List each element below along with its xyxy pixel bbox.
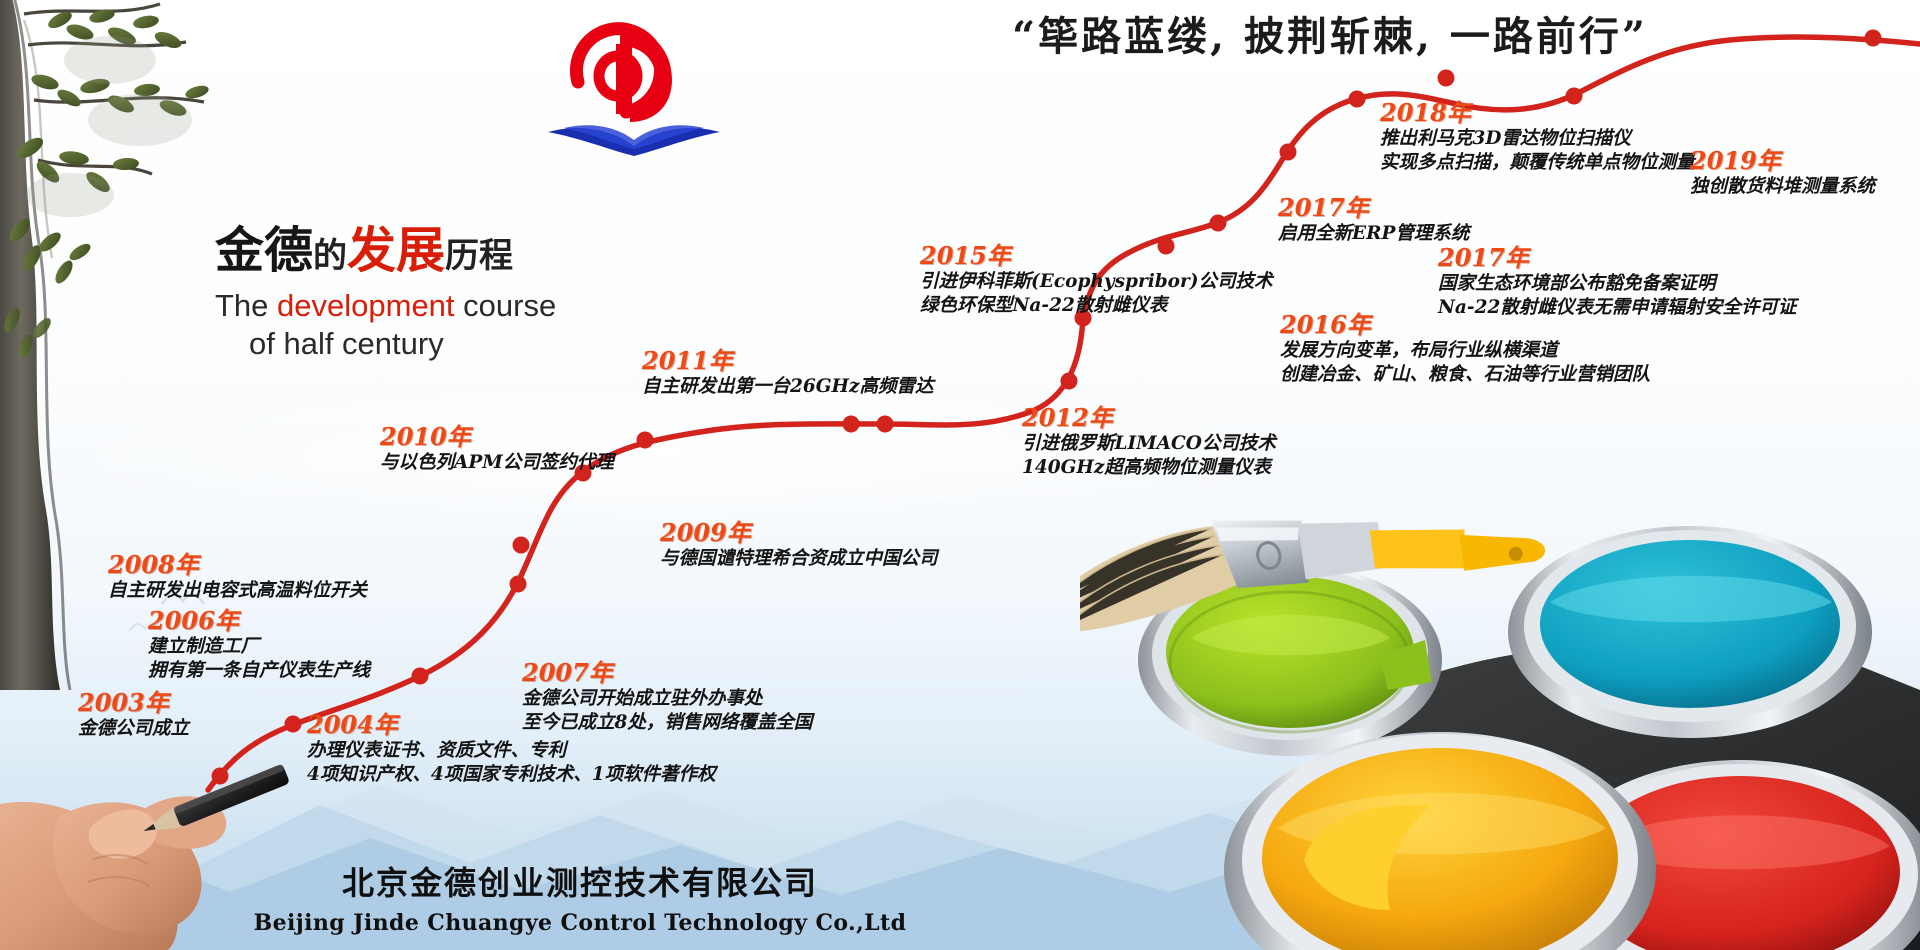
- event-2018: 2018年 推出利马克3D雷达物位扫描仪 实现多点扫描，颠覆传统单点物位测量: [1380, 100, 1695, 176]
- subtitle-the: The: [215, 288, 277, 323]
- event-2012-year: 2012年: [1022, 403, 1113, 432]
- event-2004-year: 2004年: [307, 710, 398, 739]
- event-2006-line1: 建立制造工厂: [148, 635, 370, 659]
- poster-slogan: “筚路蓝缕, 披荆斩棘, 一路前行”: [960, 4, 1700, 66]
- event-2012-line2: 140GHz超高频物位测量仪表: [1022, 456, 1276, 480]
- event-2017-certificate: 2017年 国家生态环境部公布豁免备案证明 Na-22散射雌仪表无需申请辐射安全…: [1438, 245, 1796, 321]
- event-2019-line1: 独创散货料堆测量系统: [1690, 175, 1875, 199]
- event-2008-line1: 自主研发出电容式高温料位开关: [108, 579, 367, 603]
- event-2018-line1: 推出利马克3D雷达物位扫描仪: [1380, 127, 1695, 151]
- timeline-node: [877, 416, 894, 433]
- event-2016-year: 2016年: [1280, 310, 1371, 339]
- poster-canvas: “筚路蓝缕, 披荆斩棘, 一路前行” 金德的发展历程 The developme…: [0, 0, 1920, 950]
- event-2003: 2003年 金德公司成立: [78, 690, 189, 741]
- event-2009-year: 2009年: [660, 518, 751, 547]
- event-2016: 2016年 发展方向变革，布局行业纵横渠道 创建冶金、矿山、粮食、石油等行业营销…: [1280, 312, 1650, 388]
- event-2017b-line1: 国家生态环境部公布豁免备案证明: [1438, 272, 1796, 296]
- title-cn-part2: 的: [313, 236, 347, 276]
- timeline-node: [1210, 215, 1227, 232]
- title-block: 金德的发展历程 The development course of half c…: [215, 225, 645, 363]
- event-2015: 2015年 引进伊科菲斯(Ecophyspribor)公司技术 绿色环保型Na-…: [920, 243, 1273, 319]
- timeline-node: [285, 716, 302, 733]
- subtitle-development: development: [277, 288, 455, 323]
- page-subtitle: The development course of half century: [215, 287, 645, 363]
- page-title: 金德的发展历程: [215, 225, 645, 276]
- event-2007-year: 2007年: [522, 658, 613, 687]
- timeline-node: [1061, 373, 1078, 390]
- event-2010: 2010年 与以色列APM公司签约代理: [380, 424, 614, 475]
- event-2017a-year: 2017年: [1278, 193, 1369, 222]
- title-cn-part1: 金德: [215, 221, 313, 279]
- event-2019-year: 2019年: [1690, 146, 1781, 175]
- timeline-node: [1438, 70, 1455, 87]
- event-2012-line1: 引进俄罗斯LIMACO公司技术: [1022, 432, 1276, 456]
- timeline-node: [212, 768, 229, 785]
- footer: 北京金德创业测控技术有限公司 Beijing Jinde Chuangye Co…: [0, 858, 1160, 936]
- title-cn-part4: 历程: [445, 236, 513, 276]
- event-2010-line1: 与以色列APM公司签约代理: [380, 451, 614, 475]
- timeline-node: [513, 537, 530, 554]
- event-2004-line2: 4项知识产权、4项国家专利技术、1项软件著作权: [307, 763, 716, 787]
- event-2017-erp: 2017年 启用全新ERP管理系统: [1278, 195, 1469, 246]
- event-2008-year: 2008年: [108, 550, 199, 579]
- event-2015-line2: 绿色环保型Na-22散射雌仪表: [920, 294, 1273, 318]
- timeline-node: [412, 668, 429, 685]
- event-2007: 2007年 金德公司开始成立驻外办事处 至今已成立8处，销售网络覆盖全国: [522, 660, 812, 736]
- event-2011-year: 2011年: [642, 346, 733, 375]
- event-2006-year: 2006年: [148, 606, 239, 635]
- timeline-node: [637, 432, 654, 449]
- event-2015-year: 2015年: [920, 241, 1011, 270]
- subtitle-course: course: [455, 288, 557, 323]
- event-2007-line1: 金德公司开始成立驻外办事处: [522, 687, 812, 711]
- title-cn-part3: 发展: [347, 221, 445, 279]
- event-2006: 2006年 建立制造工厂 拥有第一条自产仪表生产线: [148, 608, 370, 684]
- event-2006-line2: 拥有第一条自产仪表生产线: [148, 659, 370, 683]
- event-2015-line1: 引进伊科菲斯(Ecophyspribor)公司技术: [920, 270, 1273, 294]
- event-2018-line2: 实现多点扫描，颠覆传统单点物位测量: [1380, 151, 1695, 175]
- timeline-node: [1865, 30, 1882, 47]
- event-2007-line2: 至今已成立8处，销售网络覆盖全国: [522, 711, 812, 735]
- timeline-node: [1349, 91, 1366, 108]
- event-2004-line1: 办理仪表证书、资质文件、专利: [307, 739, 716, 763]
- timeline-node: [1280, 144, 1297, 161]
- event-2009: 2009年 与德国谴特理希合资成立中国公司: [660, 520, 938, 571]
- event-2012: 2012年 引进俄罗斯LIMACO公司技术 140GHz超高频物位测量仪表: [1022, 405, 1276, 481]
- event-2016-line2: 创建冶金、矿山、粮食、石油等行业营销团队: [1280, 363, 1650, 387]
- event-2017b-line2: Na-22散射雌仪表无需申请辐射安全许可证: [1438, 296, 1796, 320]
- event-2009-line1: 与德国谴特理希合资成立中国公司: [660, 547, 938, 571]
- event-2010-year: 2010年: [380, 422, 471, 451]
- event-2003-line1: 金德公司成立: [78, 717, 189, 741]
- company-logo: [520, 10, 750, 160]
- timeline-node: [843, 416, 860, 433]
- event-2011: 2011年 自主研发出第一台26GHz高频雷达: [642, 348, 934, 399]
- event-2008: 2008年 自主研发出电容式高温料位开关: [108, 552, 367, 603]
- event-2017b-year: 2017年: [1438, 243, 1529, 272]
- subtitle-line2: of half century: [215, 325, 645, 363]
- company-name-cn: 北京金德创业测控技术有限公司: [0, 858, 1160, 904]
- event-2003-year: 2003年: [78, 688, 169, 717]
- timeline-node: [510, 576, 527, 593]
- event-2018-year: 2018年: [1380, 98, 1471, 127]
- company-name-en: Beijing Jinde Chuangye Control Technolog…: [0, 910, 1160, 936]
- event-2016-line1: 发展方向变革，布局行业纵横渠道: [1280, 339, 1650, 363]
- event-2019: 2019年 独创散货料堆测量系统: [1690, 148, 1875, 199]
- event-2011-line1: 自主研发出第一台26GHz高频雷达: [642, 375, 934, 399]
